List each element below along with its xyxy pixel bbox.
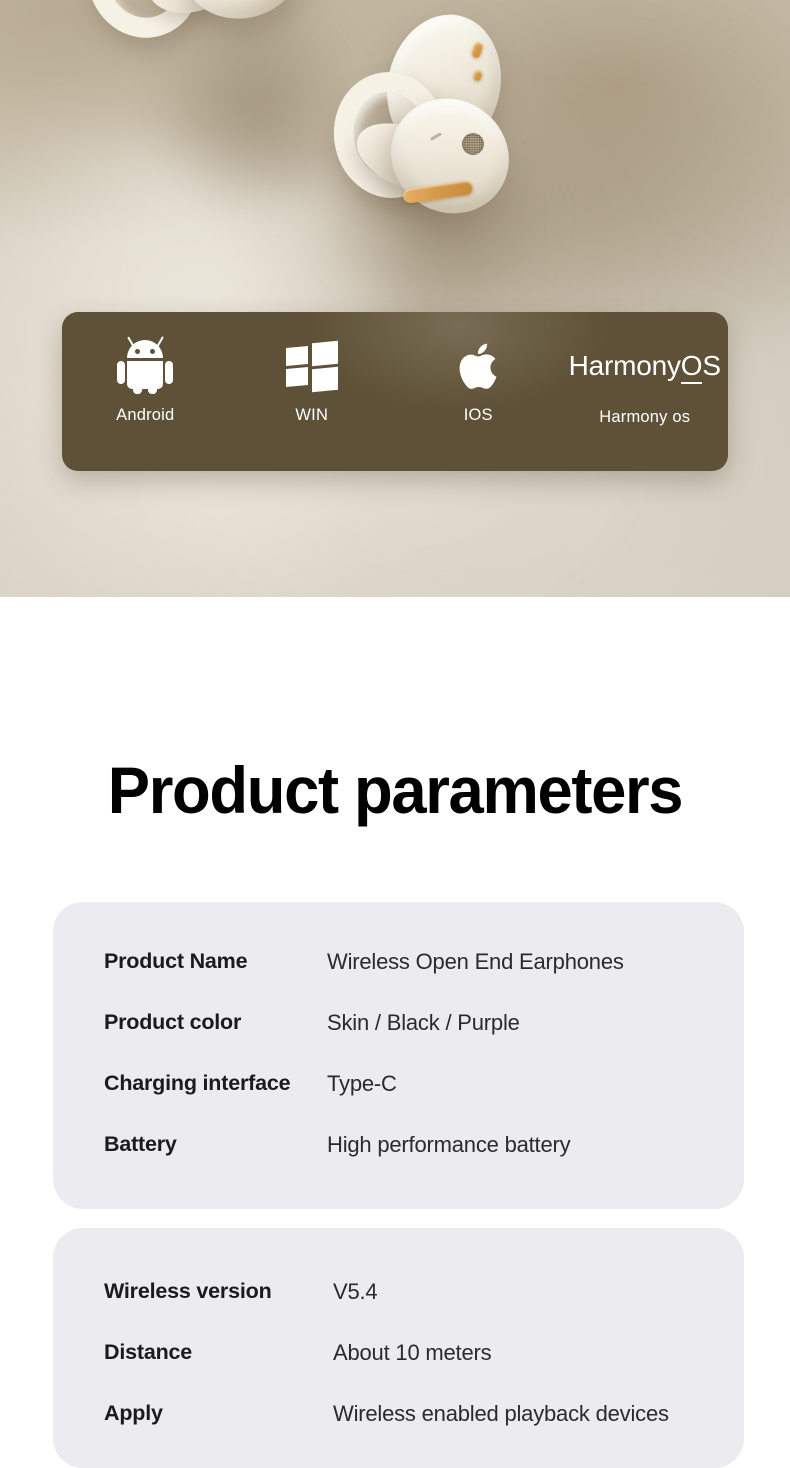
os-item-ios: IOS	[395, 312, 562, 425]
hero-product-image: Android WIN IOS HarmonyOS	[0, 0, 790, 597]
android-robot-icon	[118, 338, 172, 394]
os-item-windows: WIN	[229, 312, 396, 425]
spec-key: Product Name	[104, 949, 247, 974]
os-label-harmonyos: Harmony os	[599, 408, 690, 427]
earbud-right-speaker-mesh	[462, 133, 484, 155]
spec-key: Distance	[104, 1340, 192, 1365]
apple-logo-icon	[453, 338, 503, 394]
spec-key: Battery	[104, 1132, 177, 1157]
harmonyos-wordmark-icon: HarmonyOS	[569, 338, 721, 394]
spec-card-wireless: Wireless version V5.4 Distance About 10 …	[53, 1228, 744, 1468]
os-item-harmonyos: HarmonyOS Harmony os	[562, 312, 729, 427]
spec-key: Apply	[104, 1401, 163, 1426]
spec-card-general: Product Name Wireless Open End Earphones…	[53, 902, 744, 1209]
os-label-ios: IOS	[464, 406, 493, 425]
spec-key: Wireless version	[104, 1279, 272, 1304]
os-compatibility-bar: Android WIN IOS HarmonyOS	[62, 312, 728, 471]
spec-value: Skin / Black / Purple	[327, 1010, 520, 1036]
os-label-android: Android	[116, 406, 174, 425]
os-label-windows: WIN	[295, 406, 328, 425]
os-item-android: Android	[62, 312, 229, 425]
windows-flag-icon	[286, 338, 338, 394]
spec-value: Wireless enabled playback devices	[333, 1401, 669, 1427]
spec-value: Wireless Open End Earphones	[327, 949, 624, 975]
harmonyos-wordmark-prefix: Harmony	[569, 350, 681, 381]
spec-value: Type-C	[327, 1071, 397, 1097]
spec-value: V5.4	[333, 1279, 377, 1305]
page-title: Product parameters	[16, 757, 774, 823]
spec-key: Product color	[104, 1010, 241, 1035]
spec-value: High performance battery	[327, 1132, 570, 1158]
harmonyos-wordmark-o: O	[681, 350, 703, 384]
spec-key: Charging interface	[104, 1071, 290, 1096]
harmonyos-wordmark-suffix: S	[702, 350, 720, 381]
earbud-left	[70, 0, 330, 124]
earbud-right	[310, 10, 550, 240]
spec-value: About 10 meters	[333, 1340, 491, 1366]
